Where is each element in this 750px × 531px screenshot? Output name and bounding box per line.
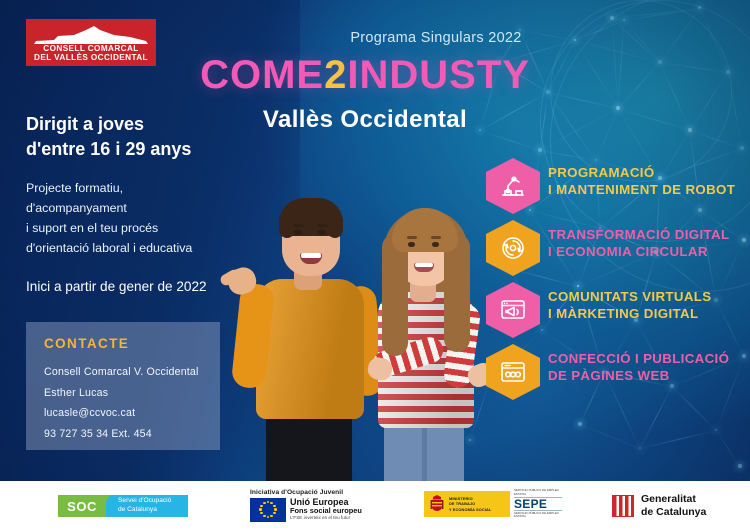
generalitat-text: Generalitat de Catalunya (641, 493, 706, 519)
body-line-2: d'acompanyament (26, 198, 251, 218)
soc-line-2: de Catalunya (118, 506, 188, 515)
woman-eyebrow-right (431, 236, 441, 239)
sepe-acronym: SEPE (514, 498, 562, 510)
generalitat-logo: Generalitat de Catalunya (612, 493, 706, 519)
eu-tagline: L'FSE inverteix en el teu futur (290, 515, 362, 521)
program-label-4-line-1: CONFECCIÓ I PUBLICACIÓ (548, 350, 748, 367)
eu-star (267, 516, 270, 519)
contact-card: CONTACTE Consell Comarcal V. Occidental … (26, 322, 220, 450)
spain-coat-of-arms-icon (429, 494, 445, 514)
sepe-bottom-text: SERVICIO PÚBLICO DE EMPLEO ESTATAL (514, 510, 562, 519)
program-item-robotics[interactable]: PROGRAMACIÓ I MANTENIMENT DE ROBOT (486, 158, 750, 220)
woman-eyebrow-left (407, 236, 417, 239)
body-line-3: i suport en el teu procés (26, 218, 251, 238)
program-label-1-line-2: I MANTENIMENT DE ROBOT (548, 181, 748, 198)
man-eye-right (318, 230, 326, 235)
page-title: COME2INDUSTY (200, 55, 530, 95)
eu-star (260, 512, 263, 515)
program-label-4-line-2: DE PÀGINES WEB (548, 367, 748, 384)
body-line-1: Projecte formatiu, (26, 178, 251, 198)
lead-line-2: d'entre 16 i 29 anys (26, 137, 246, 162)
poster-canvas: CONSELL COMARCAL DEL VALLÈS OCCIDENTAL P… (0, 0, 750, 531)
logo-line-2: DEL VALLÈS OCCIDENTAL (34, 53, 148, 62)
man-teeth (301, 253, 321, 258)
ministerio-block: MINISTERIO DE TRABAJO Y ECONOMÍA SOCIAL (424, 491, 510, 517)
woman-hair-left (382, 234, 408, 356)
soc-name: Servei d'Ocupació de Catalunya (106, 495, 188, 517)
program-kicker: Programa Singulars 2022 (286, 30, 586, 46)
people-photo (232, 168, 502, 481)
consell-comarcal-logo: CONSELL COMARCAL DEL VALLÈS OCCIDENTAL (26, 19, 156, 66)
lead-line-1: Dirigit a joves (26, 112, 246, 137)
program-label-1: PROGRAMACIÓ I MANTENIMENT DE ROBOT (548, 164, 748, 198)
man-eye-left (294, 230, 302, 235)
title-part-1: COME (200, 53, 324, 97)
program-icon-wrap-1 (486, 158, 540, 214)
ministerio-text: MINISTERIO DE TRABAJO Y ECONOMÍA SOCIAL (449, 496, 491, 511)
program-list: PROGRAMACIÓ I MANTENIMENT DE ROBOT (486, 158, 750, 406)
eu-text-block: Unió Europea Fons social europeu L'FSE i… (290, 498, 362, 521)
contact-organization: Consell Comarcal V. Occidental (44, 362, 220, 383)
contact-person: Esther Lucas (44, 383, 220, 404)
ministerio-sepe-logo: MINISTERIO DE TRABAJO Y ECONOMÍA SOCIAL … (424, 491, 566, 517)
man-hair (279, 198, 343, 236)
generalitat-line-2: de Catalunya (641, 506, 706, 519)
program-item-digital-transformation[interactable]: TRANSFORMACIÓ DIGITAL I ECONOMIA CIRCULA… (486, 220, 750, 282)
eu-star (270, 502, 273, 505)
contact-phone: 93 727 35 34 Ext. 454 (44, 424, 220, 445)
soc-slash-shape (96, 495, 110, 517)
sepe-block: SERVICIO PÚBLICO DE EMPLEO ESTATAL SEPE … (510, 491, 566, 517)
eu-star (259, 508, 262, 511)
program-label-2-line-1: TRANSFORMACIÓ DIGITAL (548, 226, 748, 243)
logo-line-1: CONSELL COMARCAL (43, 44, 138, 53)
eu-star (263, 502, 266, 505)
eu-star (274, 508, 277, 511)
program-icon-wrap-3 (486, 282, 540, 338)
body-line-4: d'orientació laboral i educativa (26, 238, 251, 258)
program-label-4: CONFECCIÓ I PUBLICACIÓ DE PÀGINES WEB (548, 350, 748, 384)
contact-title: CONTACTE (44, 336, 220, 351)
eu-star (273, 512, 276, 515)
soc-logo: SOC Servei d'Ocupació de Catalunya (58, 495, 188, 517)
eu-star (270, 515, 273, 518)
program-label-1-line-1: PROGRAMACIÓ (548, 164, 748, 181)
man-eyebrow-right (317, 224, 328, 227)
generalitat-line-1: Generalitat (641, 493, 706, 506)
man-eyebrow-left (293, 224, 304, 227)
eu-initiative-text: Iniciativa d'Ocupació Juvenil (250, 489, 375, 496)
page-subtitle: Vallès Occidental (200, 106, 530, 134)
catalan-senyera-icon (612, 495, 634, 517)
eu-flag-icon (250, 498, 286, 522)
program-label-3-line-2: I MÀRKETING DIGITAL (548, 305, 748, 322)
program-label-3: COMUNITATS VIRTUALS I MÀRKETING DIGITAL (548, 288, 748, 322)
robot-arm-icon (486, 158, 540, 214)
ministerio-line-3: Y ECONOMÍA SOCIAL (449, 507, 491, 512)
soc-line-1: Servei d'Ocupació (118, 497, 188, 506)
program-label-3-line-1: COMUNITATS VIRTUALS (548, 288, 748, 305)
title-part-2: INDUSTY (347, 53, 530, 97)
eu-star (263, 515, 266, 518)
footer-logo-bar: SOC Servei d'Ocupació de Catalunya Inici… (0, 481, 750, 531)
program-label-2: TRANSFORMACIÓ DIGITAL I ECONOMIA CIRCULA… (548, 226, 748, 260)
eu-logo-row: Unió Europea Fons social europeu L'FSE i… (250, 498, 375, 522)
program-icon-wrap-4 (486, 344, 540, 400)
eu-fund: Fons social europeu (290, 507, 362, 516)
woman-teeth (415, 263, 433, 267)
program-item-virtual-communities[interactable]: COMUNITATS VIRTUALS I MÀRKETING DIGITAL (486, 282, 750, 344)
megaphone-browser-icon (486, 282, 540, 338)
circular-economy-icon (486, 220, 540, 276)
target-audience-text: Dirigit a joves d'entre 16 i 29 anys (26, 112, 246, 162)
title-accent-digit: 2 (324, 53, 347, 97)
program-item-web-publishing[interactable]: CONFECCIÓ I PUBLICACIÓ DE PÀGINES WEB (486, 344, 750, 406)
woman-eye-right (432, 242, 439, 247)
woman-eye-left (408, 242, 415, 247)
eu-star (267, 501, 270, 504)
program-icon-wrap-2 (486, 220, 540, 276)
european-union-logo: Iniciativa d'Ocupació Juvenil Unió Europ… (250, 489, 375, 522)
program-label-2-line-2: I ECONOMIA CIRCULAR (548, 243, 748, 260)
eu-star (260, 505, 263, 508)
contact-email[interactable]: lucasle@ccvoc.cat (44, 403, 220, 424)
eu-star (273, 505, 276, 508)
program-description: Projecte formatiu, d'acompanyament i sup… (26, 178, 251, 258)
browser-window-icon (486, 344, 540, 400)
